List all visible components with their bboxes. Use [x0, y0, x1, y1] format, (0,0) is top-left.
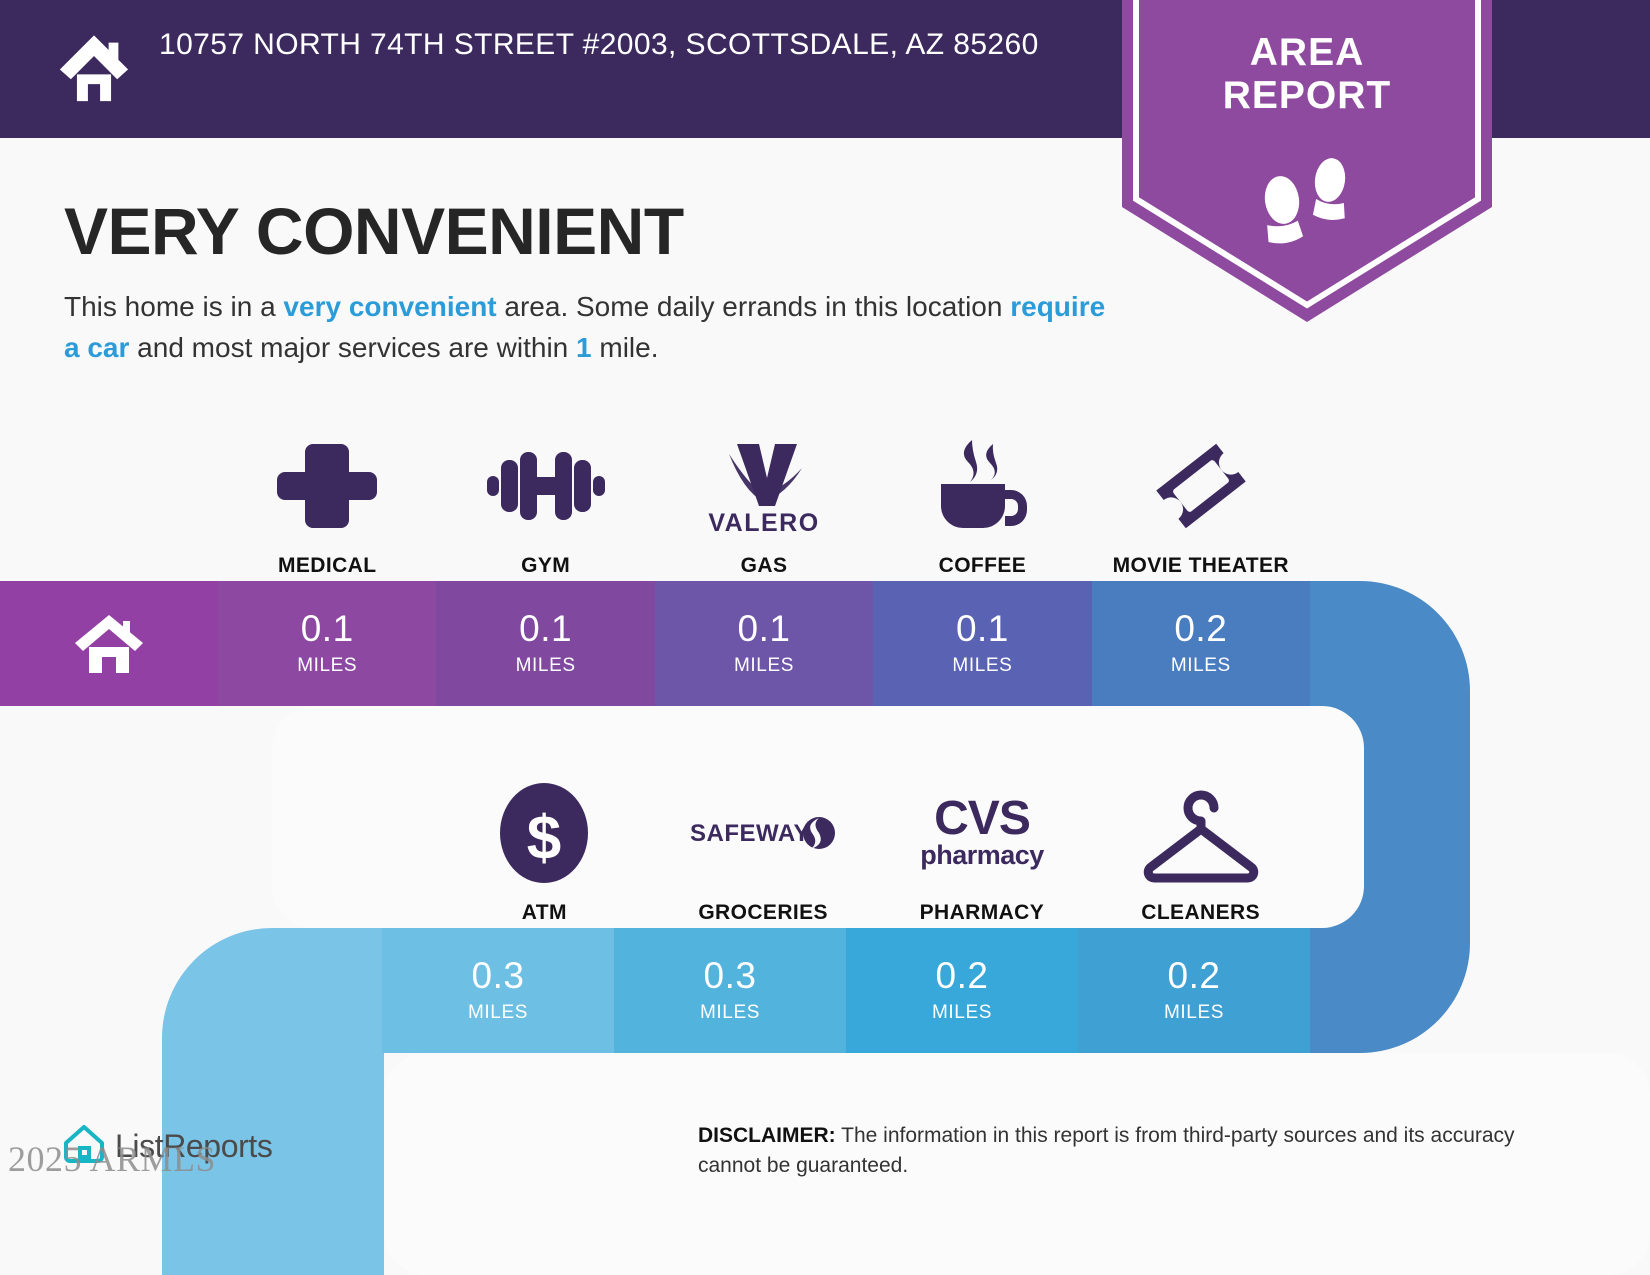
- distance-unit: MILES: [1171, 655, 1231, 677]
- cvs-logo-icon: CVS pharmacy: [912, 779, 1052, 887]
- amenity-atm: $ ATM: [435, 755, 654, 925]
- amenity-label: GROCERIES: [698, 901, 828, 925]
- safeway-logo-icon: SAFEWAY: [688, 779, 838, 887]
- distance-cell: 0.2 MILES: [846, 928, 1078, 1053]
- distance-unit: MILES: [468, 1002, 528, 1024]
- distance-cell: 0.2 MILES: [1092, 581, 1310, 706]
- distance-unit: MILES: [734, 655, 794, 677]
- distance-value: 0.2: [1174, 610, 1227, 647]
- amenity-medical: MEDICAL: [218, 418, 436, 578]
- distance-cell: 0.2 MILES: [1078, 928, 1310, 1053]
- distance-cell: 0.1 MILES: [655, 581, 873, 706]
- amenity-label: CLEANERS: [1141, 901, 1260, 925]
- amenity-icon-row-1: MEDICAL GYM VALERO: [218, 418, 1310, 578]
- dollar-circle-icon: $: [499, 779, 589, 887]
- distance-unit: MILES: [516, 655, 576, 677]
- movie-ticket-icon: [1149, 432, 1253, 540]
- svg-text:VALERO: VALERO: [708, 509, 819, 536]
- distance-value: 0.2: [1168, 957, 1221, 994]
- amenity-icon-row-2: $ ATM SAFEWAY GROCERIES CVS pharmacy PHA…: [435, 755, 1310, 925]
- route-start-home: [0, 581, 218, 706]
- distance-unit: MILES: [952, 655, 1012, 677]
- amenity-movie-theater: MOVIE THEATER: [1092, 418, 1310, 578]
- amenity-label: COFFEE: [939, 554, 1027, 578]
- route-segment-blank: [272, 928, 382, 1053]
- amenity-label: PHARMACY: [920, 901, 1045, 925]
- distance-bar-row-1: 0.1 MILES 0.1 MILES 0.1 MILES 0.1 MILES …: [0, 581, 1310, 706]
- distance-value: 0.1: [956, 610, 1009, 647]
- valero-logo-icon: VALERO: [699, 432, 829, 540]
- armls-watermark: 2025 ARMLS: [8, 1138, 216, 1180]
- distance-cell: 0.3 MILES: [614, 928, 846, 1053]
- hanger-icon: [1137, 779, 1265, 887]
- distance-value: 0.1: [738, 610, 791, 647]
- dumbbell-icon: [487, 432, 605, 540]
- distance-value: 0.3: [704, 957, 757, 994]
- distance-unit: MILES: [932, 1002, 992, 1024]
- svg-text:$: $: [527, 804, 561, 873]
- distance-cell: 0.1 MILES: [436, 581, 654, 706]
- coffee-cup-icon: [927, 432, 1037, 540]
- amenity-label: GYM: [521, 554, 570, 578]
- distance-cell: 0.1 MILES: [218, 581, 436, 706]
- amenity-gas: VALERO GAS: [655, 418, 873, 578]
- amenity-groceries: SAFEWAY GROCERIES: [654, 755, 873, 925]
- distance-unit: MILES: [297, 655, 357, 677]
- svg-text:CVS: CVS: [934, 792, 1030, 845]
- distance-unit: MILES: [1164, 1002, 1224, 1024]
- amenity-pharmacy: CVS pharmacy PHARMACY: [873, 755, 1092, 925]
- distance-cell: 0.1 MILES: [873, 581, 1091, 706]
- disclaimer: DISCLAIMER: The information in this repo…: [698, 1121, 1528, 1181]
- svg-text:SAFEWAY: SAFEWAY: [690, 820, 810, 847]
- amenity-label: ATM: [522, 901, 567, 925]
- distance-unit: MILES: [700, 1002, 760, 1024]
- distance-value: 0.1: [301, 610, 354, 647]
- medical-cross-icon: [277, 432, 377, 540]
- area-report-badge: AREA REPORT: [1122, 0, 1492, 337]
- distance-value: 0.2: [936, 957, 989, 994]
- amenity-label: GAS: [741, 554, 788, 578]
- amenity-coffee: COFFEE: [873, 418, 1091, 578]
- distance-cell: 0.3 MILES: [382, 928, 614, 1053]
- amenity-label: MEDICAL: [278, 554, 376, 578]
- disclaimer-label: DISCLAIMER:: [698, 1124, 836, 1147]
- amenity-gym: GYM: [436, 418, 654, 578]
- svg-text:pharmacy: pharmacy: [920, 840, 1044, 870]
- distance-value: 0.3: [472, 957, 525, 994]
- amenity-cleaners: CLEANERS: [1091, 755, 1310, 925]
- distance-bar-row-2: 0.3 MILES 0.3 MILES 0.2 MILES 0.2 MILES: [272, 928, 1310, 1053]
- distance-value: 0.1: [519, 610, 572, 647]
- amenity-label: MOVIE THEATER: [1113, 554, 1289, 578]
